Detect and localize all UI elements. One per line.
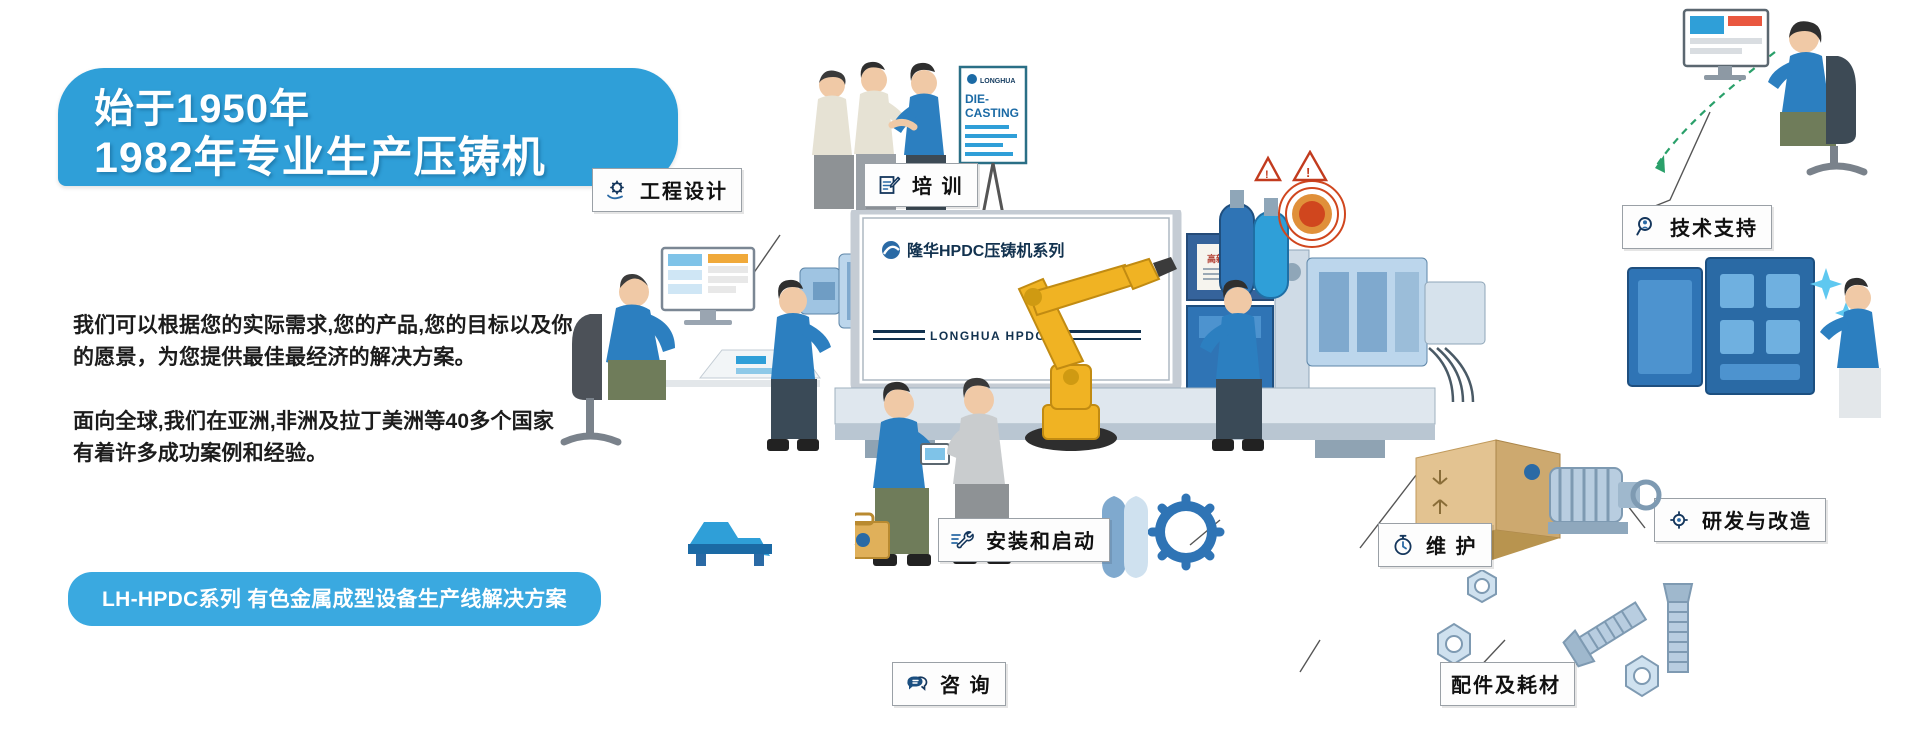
svg-text:DIE-: DIE- bbox=[965, 92, 989, 106]
fasteners-group bbox=[1420, 570, 1720, 730]
consultation-group bbox=[855, 370, 1095, 600]
svg-text:LONGHUA: LONGHUA bbox=[980, 78, 1015, 85]
factory-illustration: 工程设计 LONGHUA bbox=[660, 0, 1920, 720]
callout-label: 配件及耗材 bbox=[1451, 669, 1561, 698]
svg-text:!: ! bbox=[1265, 169, 1269, 181]
callout-technical-support[interactable]: 技术支持 bbox=[1622, 205, 1772, 249]
tools-gear-wrench bbox=[1090, 490, 1240, 610]
callout-engineering-design[interactable]: 工程设计 bbox=[592, 168, 742, 212]
clipboard-pen-icon bbox=[875, 171, 903, 199]
worker-right bbox=[1180, 275, 1320, 475]
callout-maintenance[interactable]: 维 护 bbox=[1378, 523, 1492, 567]
callout-label: 维 护 bbox=[1426, 530, 1478, 559]
worker-left bbox=[735, 275, 875, 475]
solution-tag[interactable]: LH-HPDC系列 有色金属成型设备生产线解决方案 bbox=[68, 572, 601, 626]
callout-label: 技术支持 bbox=[1670, 212, 1758, 241]
wrench-icon bbox=[949, 526, 977, 554]
intro-paragraph-1: 我们可以根据您的实际需求,您的产品,您的目标以及你 的愿景，为您提供最佳最经济的… bbox=[73, 310, 633, 374]
callout-label: 培 训 bbox=[912, 170, 964, 199]
headline-banner: 始于1950年 1982年专业生产压铸机 bbox=[58, 68, 678, 186]
callout-training[interactable]: 培 训 bbox=[864, 163, 978, 207]
svg-text:CASTING: CASTING bbox=[965, 106, 1019, 120]
callout-label: 咨 询 bbox=[940, 669, 992, 698]
callout-consultation[interactable]: 咨 询 bbox=[892, 662, 1006, 706]
gear-hand-icon bbox=[603, 176, 631, 204]
stopwatch-icon bbox=[1389, 531, 1417, 559]
callout-parts-consumables[interactable]: 配件及耗材 bbox=[1440, 662, 1575, 706]
callout-label: 工程设计 bbox=[640, 175, 728, 204]
blue-fixture bbox=[680, 500, 790, 570]
hero-banner-illustration: 始于1950年 1982年专业生产压铸机 我们可以根据您的实际需求,您的产品,您… bbox=[0, 0, 1920, 720]
svg-text:!: ! bbox=[1306, 165, 1310, 180]
remote-support-scene bbox=[1670, 0, 1920, 180]
speech-bubble-icon bbox=[903, 670, 931, 698]
callout-label: 安装和启动 bbox=[986, 525, 1096, 554]
callout-label: 研发与改造 bbox=[1702, 505, 1812, 534]
headline-line-2: 1982年专业生产压铸机 bbox=[94, 123, 546, 185]
intro-paragraph-2: 面向全球,我们在亚洲,非洲及拉丁美洲等40多个国家 有着许多成功案例和经验。 bbox=[73, 406, 633, 470]
magnifier-person-icon bbox=[1633, 213, 1661, 241]
callout-installation-startup[interactable]: 安装和启动 bbox=[938, 518, 1110, 562]
